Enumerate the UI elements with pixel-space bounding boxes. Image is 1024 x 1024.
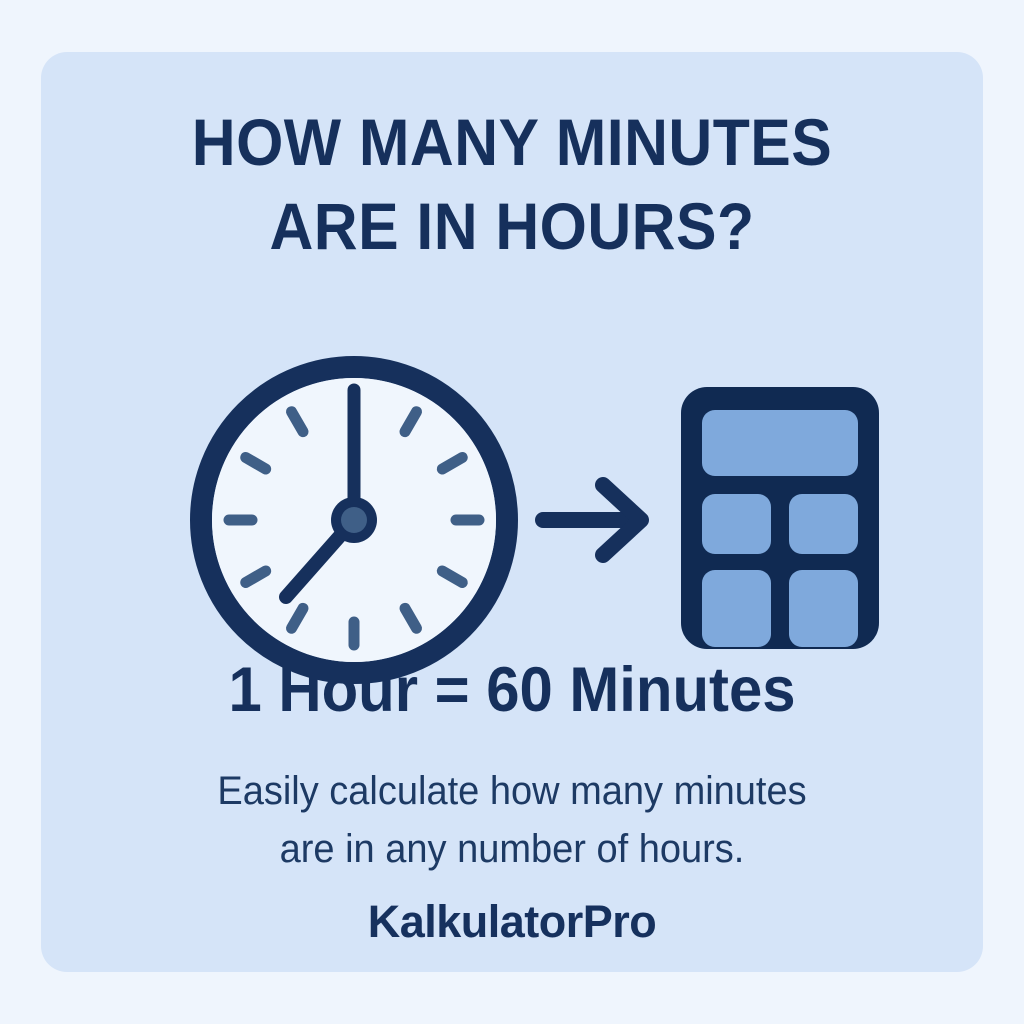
calculator-key-4	[789, 570, 858, 647]
calculator-display	[702, 410, 858, 476]
calculator-icon	[632, 327, 912, 687]
calculator-key-1	[702, 494, 771, 554]
calculator-key-2	[789, 494, 858, 554]
title-line-1: HOW MANY MINUTES	[79, 100, 946, 184]
calculator-key-3	[702, 570, 771, 647]
page-title: HOW MANY MINUTES ARE IN HOURS?	[41, 100, 983, 268]
infographic-canvas: HOW MANY MINUTES ARE IN HOURS?	[0, 0, 1024, 1024]
brand-name: KalkulatorPro	[41, 894, 983, 950]
description-line-1: Easily calculate how many minutes	[65, 762, 960, 820]
conversion-result: 1 Hour = 60 Minutes	[65, 654, 960, 726]
clock-hour-hand	[286, 520, 354, 597]
arrow-right-icon	[486, 440, 666, 600]
description-text: Easily calculate how many minutes are in…	[41, 762, 983, 878]
calculator-body	[681, 387, 879, 649]
title-line-2: ARE IN HOURS?	[79, 184, 946, 268]
description-line-2: are in any number of hours.	[65, 820, 960, 878]
infographic-card: HOW MANY MINUTES ARE IN HOURS?	[41, 52, 983, 972]
